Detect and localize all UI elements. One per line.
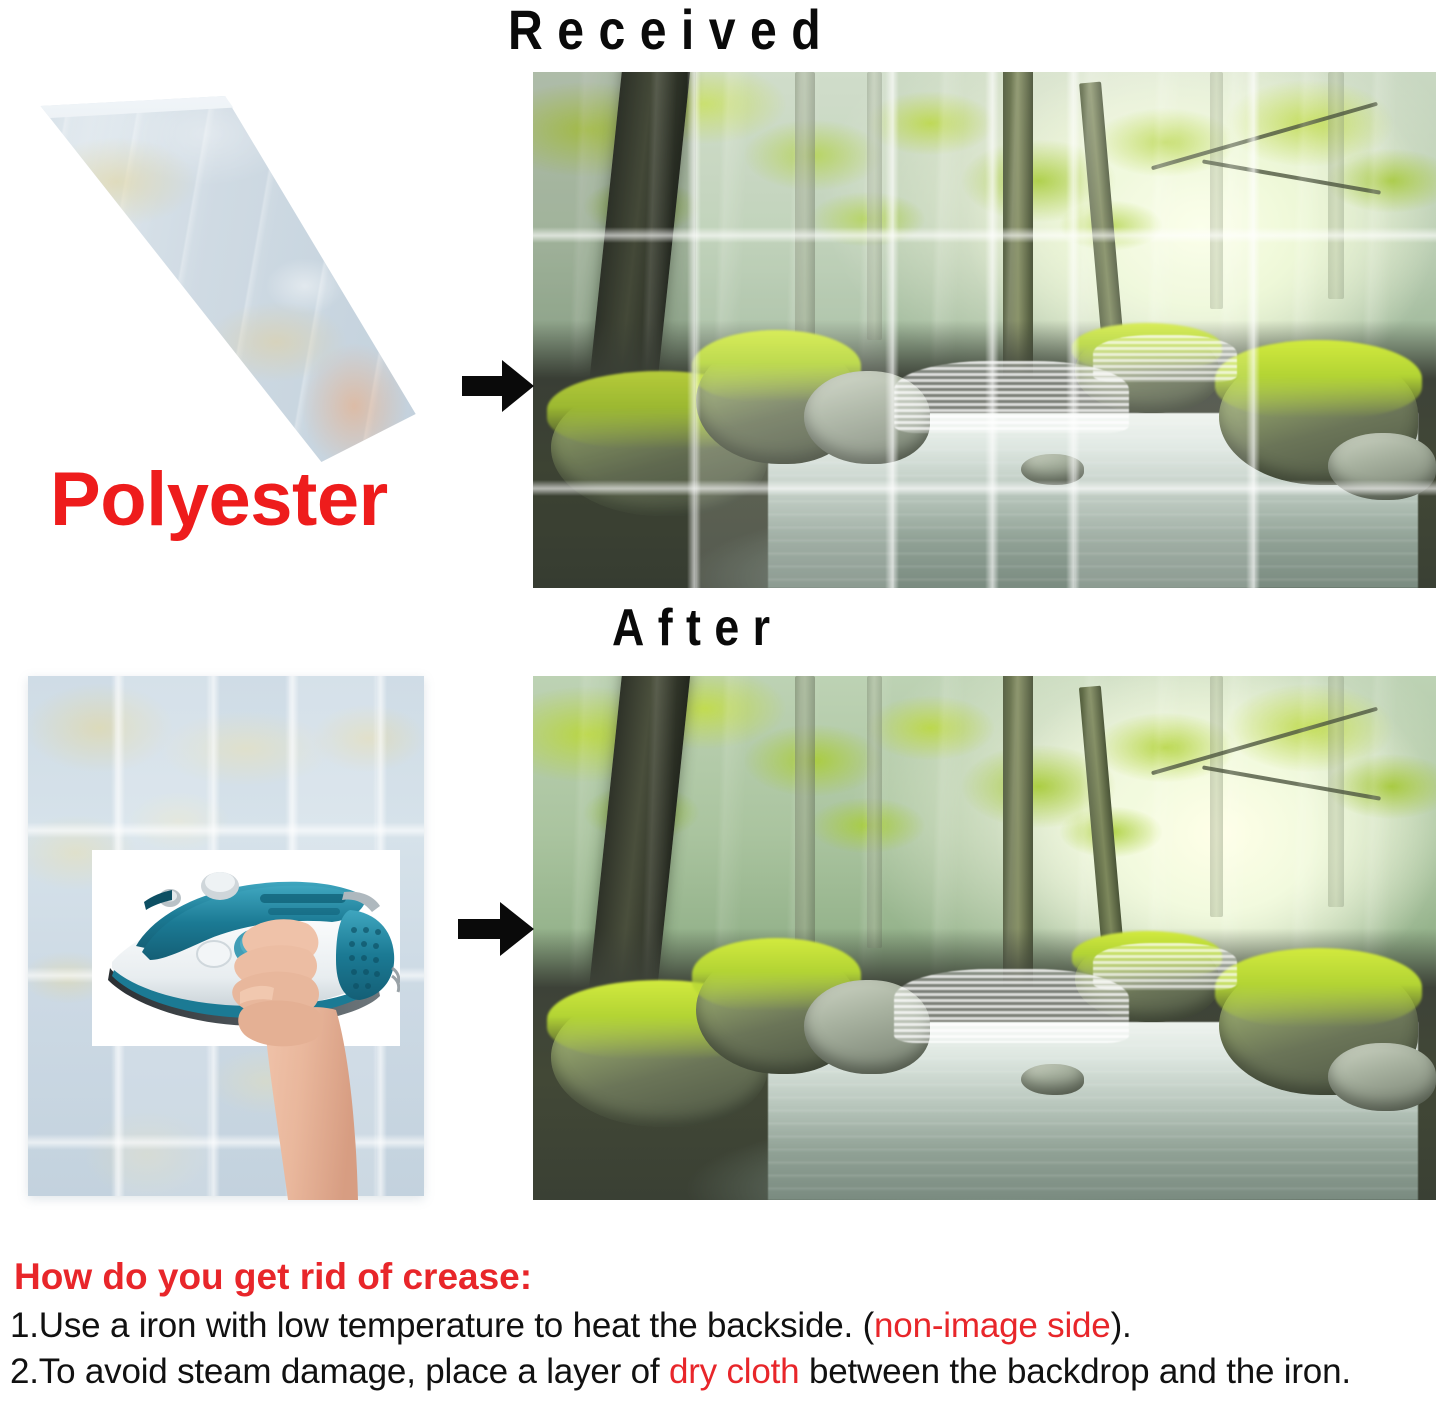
received-backdrop-photo	[533, 72, 1436, 588]
infographic-canvas: Received After Polyester	[0, 0, 1436, 1402]
scene-waterfall	[1093, 943, 1237, 990]
care-1-text-after: ).	[1111, 1306, 1132, 1345]
polyester-label: Polyester	[50, 462, 388, 538]
care-instruction-1: 1.Use a iron with low temperature to hea…	[10, 1306, 1132, 1346]
care-1-highlight: non-image side	[874, 1306, 1111, 1345]
section-title-after: After	[612, 602, 783, 654]
right-arrow-icon	[458, 900, 534, 958]
care-1-text-before: 1.Use a iron with low temperature to hea…	[10, 1306, 874, 1345]
section-title-received: Received	[508, 2, 835, 58]
scene-rock	[1021, 454, 1084, 485]
folded-fabric-image	[18, 78, 428, 478]
scene-waterfall	[1093, 335, 1237, 381]
after-backdrop-photo	[533, 676, 1436, 1200]
care-2-highlight: dry cloth	[669, 1352, 799, 1391]
scene-rock	[1021, 1064, 1084, 1095]
care-2-text-after: between the backdrop and the iron.	[799, 1352, 1350, 1391]
care-instruction-2: 2.To avoid steam damage, place a layer o…	[10, 1352, 1351, 1392]
right-arrow-icon	[462, 358, 534, 414]
scene-rock	[1328, 1043, 1436, 1111]
care-2-text-before: 2.To avoid steam damage, place a layer o…	[10, 1352, 669, 1391]
fabric-bleed-through	[18, 78, 428, 478]
scene-rock	[1328, 433, 1436, 500]
hand-icon	[230, 900, 370, 1200]
care-instructions-heading: How do you get rid of crease:	[14, 1256, 532, 1298]
